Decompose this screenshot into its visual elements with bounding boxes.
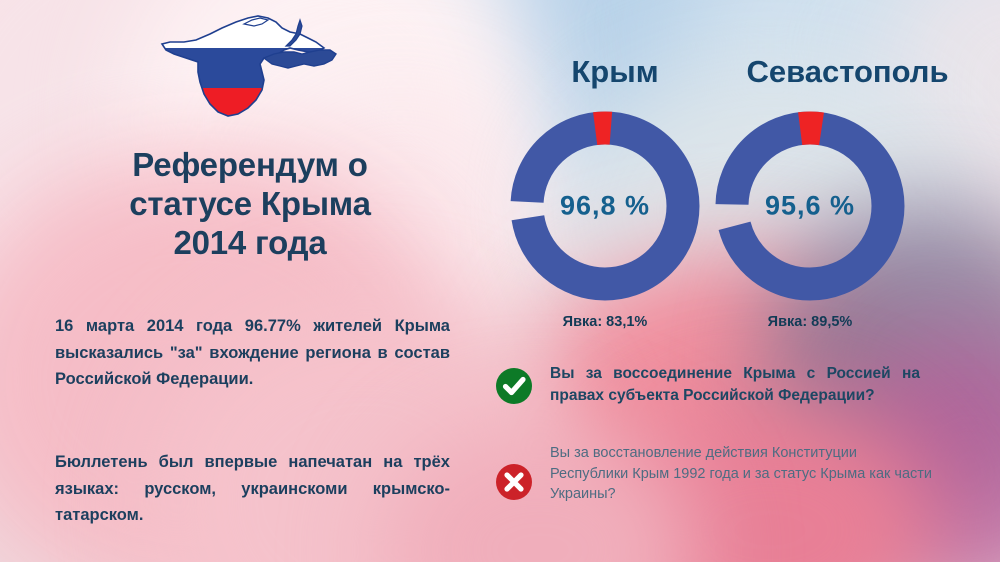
page-title: Референдум о статусе Крыма 2014 года [40, 146, 460, 263]
title-line-1: Референдум о [40, 146, 460, 185]
infographic-page: Референдум о статусе Крыма 2014 года 16 … [0, 0, 1000, 562]
turnout-label-crimea: Явка: 83,1% [510, 314, 700, 330]
left-panel: Референдум о статусе Крыма 2014 года 16 … [0, 0, 500, 562]
paragraph-ballot-languages: Бюллетень был впервые напечатан на трёх … [55, 449, 450, 529]
paragraph-referendum-result: 16 марта 2014 года 96.77% жителей Крыма … [55, 313, 450, 393]
ballot-question-no-text: Вы за восстановление действия Конституци… [550, 443, 938, 505]
title-line-3: 2014 года [40, 224, 460, 263]
turnout-label-sevastopol: Явка: 89,5% [715, 314, 905, 330]
donut-value-sevastopol: 95,6 % [715, 191, 905, 222]
title-line-2: статусе Крыма [40, 185, 460, 224]
donut-heading-sevastopol: Севастополь [715, 54, 980, 90]
right-panel: Крым Севастополь 96,8 % 95,6 % Явка: 83,… [500, 0, 1000, 562]
crimea-map-russian-flag-icon [140, 6, 340, 131]
check-circle-icon [495, 367, 533, 405]
ballot-question-yes-text: Вы за воссоединение Крыма с Россией на п… [550, 363, 920, 407]
donut-value-crimea: 96,8 % [510, 191, 700, 222]
ballot-question-yes: Вы за воссоединение Крыма с Россией на п… [495, 363, 955, 407]
donut-heading-crimea: Крым [520, 54, 710, 90]
donut-chart-sevastopol: 95,6 % [715, 111, 905, 301]
ballot-question-no: Вы за восстановление действия Конституци… [495, 443, 965, 505]
donut-chart-crimea: 96,8 % [510, 111, 700, 301]
cross-circle-icon [495, 463, 533, 501]
